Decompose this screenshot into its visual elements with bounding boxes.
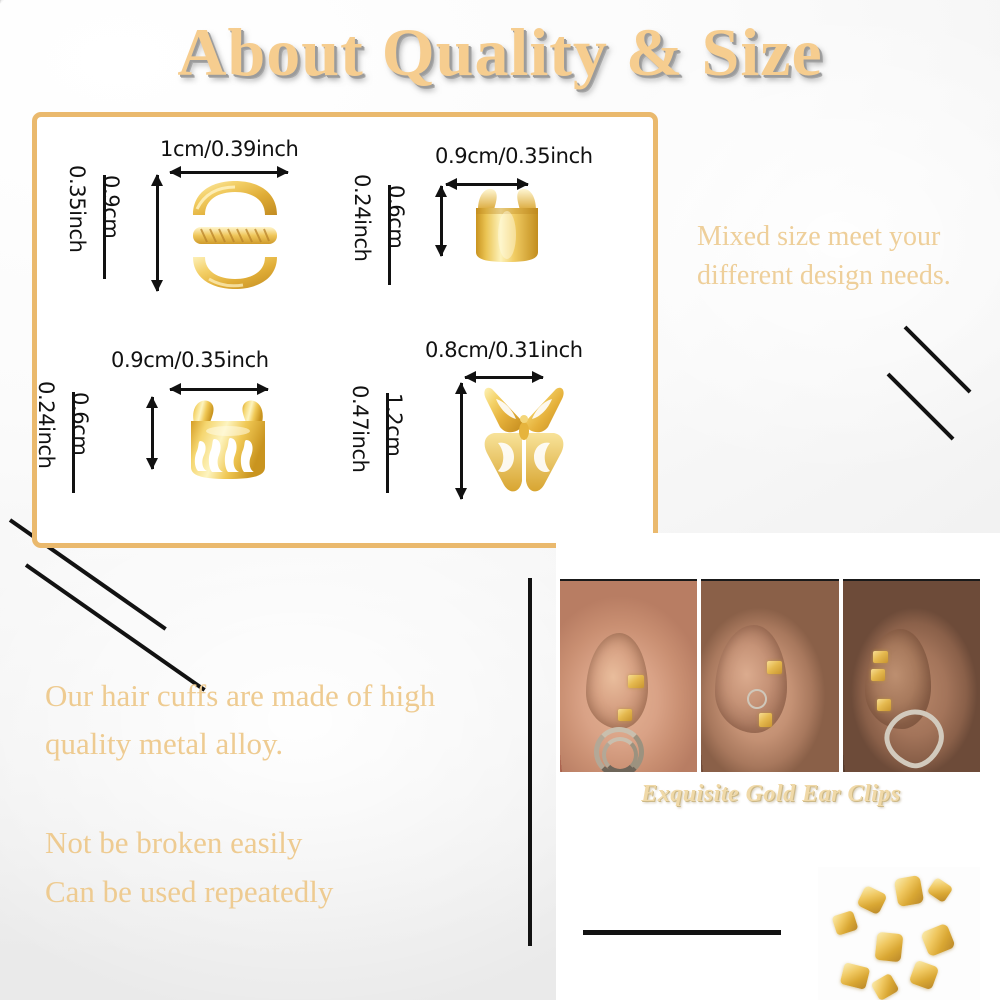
size-chart-item-plain-wide-cuff: 0.9cm/0.35inch 0.24inch 0.6cm xyxy=(350,117,663,335)
collage-caption: Exquisite Gold Ear Clips xyxy=(556,781,986,808)
dimension-label-height-inch-item-2: 0.24inch xyxy=(348,174,374,262)
decor-horizontal-rule xyxy=(583,930,781,935)
gold-cuff-upper-3 xyxy=(873,651,888,663)
scatter-cuff-7 xyxy=(840,962,871,990)
silver-hoop-earring-inner-1 xyxy=(602,737,638,772)
dimension-arrow-height-item-4 xyxy=(460,383,463,499)
gold-cuff-lower-2 xyxy=(759,713,772,727)
scatter-cuff-1 xyxy=(831,910,858,936)
dimension-label-width-item-2: 0.9cm/0.35inch xyxy=(435,144,593,168)
dimension-label-width-item-4: 0.8cm/0.31inch xyxy=(425,338,583,362)
material-caption: Our hair cuffs are made of high quality … xyxy=(45,672,500,768)
size-chart-frame: 1cm/0.39inch 0.35inch 0.9cm xyxy=(32,112,658,548)
scatter-cuff-8 xyxy=(870,973,899,1000)
ear-photo-row xyxy=(560,579,980,772)
gold-cuff-lower-1 xyxy=(618,709,632,721)
jewelry-wave-cutout-ear-cuff xyxy=(180,393,276,485)
ear-photo-2 xyxy=(701,579,838,772)
scatter-cuff-4 xyxy=(927,877,954,903)
mixed-size-caption: Mixed size meet your different design ne… xyxy=(697,217,997,295)
dimension-arrow-height-item-1 xyxy=(156,175,159,291)
jewelry-butterfly-ear-cuff xyxy=(478,381,570,503)
decor-vertical-rule xyxy=(528,578,532,946)
gold-cuff-upper-1 xyxy=(628,675,644,688)
durability-line-1: Not be broken easily xyxy=(45,818,500,867)
dimension-fraction-rule-item-3 xyxy=(72,392,75,493)
dimension-fraction-rule-item-2 xyxy=(388,185,391,285)
dimension-label-height-inch-item-4: 0.47inch xyxy=(346,385,372,473)
ear-photo-1 xyxy=(560,579,697,772)
jewelry-plain-wide-ear-cuff xyxy=(466,180,548,266)
dimension-arrow-height-item-2 xyxy=(440,186,443,256)
dimension-fraction-rule-item-4 xyxy=(386,393,389,493)
gold-cuff-mid-3 xyxy=(871,669,885,681)
scatter-cuff-9 xyxy=(909,960,940,991)
scatter-cuff-3 xyxy=(894,875,924,907)
product-spread-photo xyxy=(818,867,980,1000)
dimension-label-height-cm-item-1: 0.9cm xyxy=(97,175,123,238)
durability-caption: Not be broken easily Can be used repeate… xyxy=(45,818,500,916)
dimension-label-height-cm-item-3: 0.6cm xyxy=(66,392,92,455)
dimension-label-height-cm-item-4: 1.2cm xyxy=(380,393,406,456)
dimension-label-height-cm-item-2: 0.6cm xyxy=(382,185,408,248)
dimension-label-height-inch-item-1: 0.35inch xyxy=(63,165,89,253)
durability-line-2: Can be used repeatedly xyxy=(45,867,500,916)
size-chart-item-butterfly-cuff: 0.8cm/0.31inch 0.47inch 1.2cm xyxy=(350,335,663,553)
jewelry-multi-band-ear-cuff xyxy=(179,175,291,295)
gold-cuff-upper-2 xyxy=(767,661,782,674)
page-title: About Quality & Size xyxy=(0,14,1000,90)
dimension-label-height-inch-item-3: 0.24inch xyxy=(32,381,58,469)
dimension-label-width-item-1: 1cm/0.39inch xyxy=(160,137,298,161)
dimension-arrow-height-item-3 xyxy=(151,397,154,469)
dimension-arrow-width-item-3 xyxy=(170,388,268,391)
ear-photo-3 xyxy=(843,579,980,772)
dimension-arrow-width-item-1 xyxy=(170,171,288,174)
scatter-cuff-2 xyxy=(856,885,887,915)
dimension-fraction-rule-item-1 xyxy=(103,175,106,279)
size-chart-item-multi-band-cuff: 1cm/0.39inch 0.35inch 0.9cm xyxy=(37,117,350,335)
scatter-cuff-5 xyxy=(875,932,904,963)
dimension-arrow-width-item-4 xyxy=(465,376,543,379)
gold-cuff-lower-3 xyxy=(877,699,891,711)
scatter-cuff-6 xyxy=(920,923,956,958)
size-chart-item-wave-cutout-cuff: 0.9cm/0.35inch 0.24inch 0.6cm xyxy=(37,335,350,553)
dimension-label-width-item-3: 0.9cm/0.35inch xyxy=(111,348,269,372)
